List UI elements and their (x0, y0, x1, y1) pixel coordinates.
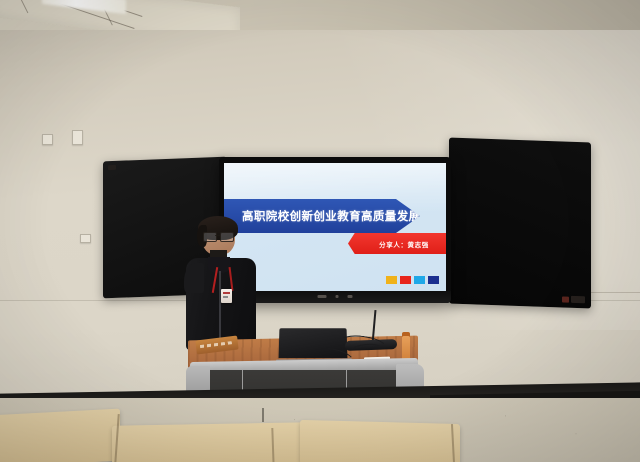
ceiling-tile-seam (9, 0, 29, 13)
swatch-cyan (414, 276, 425, 284)
glasses-lens (220, 232, 234, 242)
wall-switch-plate[interactable] (42, 134, 53, 145)
right-display-panel[interactable] (449, 138, 591, 309)
slide-color-swatches (386, 276, 439, 284)
glasses-lens (203, 232, 217, 242)
student-table[interactable] (0, 409, 120, 462)
wall-data-port[interactable] (80, 234, 91, 243)
badge-line (223, 296, 228, 298)
glasses-icon (203, 232, 234, 240)
jacket-zipper (219, 271, 221, 347)
id-badge (221, 289, 232, 303)
slide-presenter-banner: 分享人：黄志强 (348, 233, 446, 254)
folder-stripe (200, 341, 232, 348)
swatch-red (400, 276, 411, 284)
slide-title: 高职院校创新创业教育高质量发展 (242, 208, 421, 224)
display-control-markings[interactable] (318, 295, 353, 298)
bezel-mark-icon (318, 295, 327, 298)
badge-line (223, 292, 230, 294)
panel-power-led-icon (562, 296, 569, 302)
slide-presenter-line: 分享人：黄志强 (379, 239, 429, 249)
bezel-mark-icon (336, 295, 339, 298)
panel-indicator-icon (571, 296, 585, 303)
panel-indicator-icon (108, 165, 116, 170)
presenter (186, 219, 256, 349)
student-table[interactable] (112, 422, 312, 462)
bezel-mark-icon (348, 295, 353, 298)
podium-leg (262, 408, 264, 422)
wall-outlet-plate[interactable] (72, 130, 83, 145)
swatch-navy (428, 276, 439, 284)
swatch-yellow (386, 276, 397, 284)
photo-scene: 高职院校创新创业教育高质量发展 分享人：黄志强 (0, 0, 640, 462)
presentation-slide: 高职院校创新创业教育高质量发展 分享人：黄志强 (224, 163, 446, 291)
presenter-shoulder (184, 263, 204, 293)
student-table[interactable] (300, 420, 460, 462)
